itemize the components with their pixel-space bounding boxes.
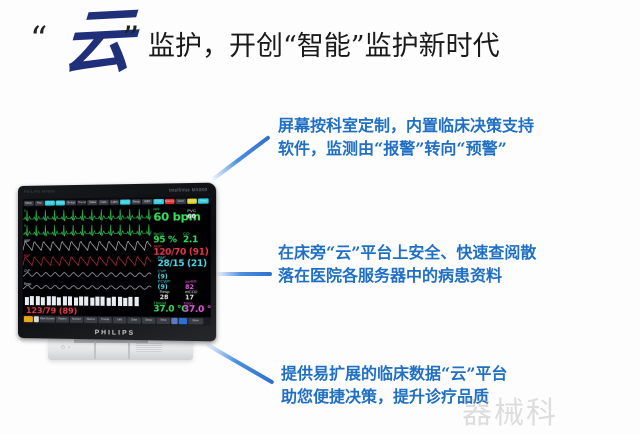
- connector-line-2: [216, 272, 272, 276]
- monitor-tab-12[interactable]: CO2: [153, 198, 163, 203]
- stand-port-grille: [136, 343, 162, 352]
- monitor-tab-0[interactable]: Main: [24, 200, 34, 205]
- toolbar-button-12[interactable]: [179, 318, 188, 324]
- callout-3-line-1: 提供易扩展的临床数据“云”平台: [281, 362, 507, 385]
- waveform-label-3: PAP: [24, 254, 30, 258]
- monitor-tab-9[interactable]: SpO2: [120, 199, 130, 204]
- co2-bar: [134, 297, 138, 306]
- power-button-icon[interactable]: [60, 344, 74, 350]
- co2-bar: [107, 298, 111, 306]
- callout-text-3: 提供易扩展的临床数据“云”平台 助您便捷决策，提升诊疗品质: [281, 362, 507, 408]
- bezel-model-label: IntelliVue MX800: [169, 187, 208, 193]
- connector-line-1: [211, 135, 271, 182]
- co2-bar: [52, 296, 56, 305]
- co2-bar: [74, 297, 78, 305]
- monitor-tab-8[interactable]: Labs: [109, 199, 119, 204]
- monitor-tab-14[interactable]: Vent: [176, 198, 186, 203]
- co2-bar: [90, 298, 94, 306]
- monitor-tab-11[interactable]: NBP: [142, 199, 152, 204]
- co2-bar: [63, 297, 67, 306]
- waveform-label-0: II: [24, 209, 26, 213]
- numeric-pvc[interactable]: PVC60: [187, 208, 196, 221]
- monitor-tab-4[interactable]: Setup: [66, 200, 76, 205]
- co2-bar: [46, 297, 50, 306]
- numeric-parameters-panel: HR60 bpmPVC60SpO295 %CO2.1ABP120/70 (91)…: [151, 206, 210, 319]
- nbp-reading-bottom: 123/79 (89): [26, 305, 77, 316]
- waveform-label-5: Resp: [24, 282, 31, 286]
- waveform-trace-0: [23, 207, 151, 223]
- monitor-tab-3[interactable]: Alarm: [56, 200, 66, 205]
- co2-bar: [95, 297, 99, 306]
- waveform-row-4: CVP: [23, 269, 151, 282]
- waveform-trace-4: [23, 269, 151, 282]
- bezel-left-label: PHILIPS MX800: [24, 189, 55, 194]
- waveform-row-2: ABP: [23, 238, 151, 253]
- stand-slot-right: [128, 339, 130, 359]
- callout-text-2: 在床旁“云”平台上安全、快速查阅散 落在医院各服务器中的病患资料: [278, 241, 536, 287]
- waveform-row-0: II: [23, 207, 151, 223]
- callout-1-line-1: 屏幕按科室定制，内置临床决策支持: [278, 114, 534, 137]
- callout-2-line-1: 在床旁“云”平台上安全、快速查阅散: [278, 241, 536, 264]
- toolbar-button-7[interactable]: Calc: [113, 317, 126, 323]
- toolbar-button-11[interactable]: [171, 318, 177, 324]
- waveform-trace-3: [23, 254, 151, 268]
- co2-bar: [25, 297, 29, 305]
- patient-monitor: PHILIPS MX800 IntelliVue MX800 PHILIPS M…: [18, 186, 226, 366]
- callout-1-line-2: 软件，监测由“报警”转向“预警”: [278, 137, 534, 160]
- co2-bar: [112, 297, 116, 306]
- monitor-bottom-toolbar[interactable]: Main ScreenPatientMonitorAlarmsTrendsCal…: [23, 315, 211, 326]
- waveform-row-5: Resp: [23, 282, 151, 294]
- stand-slot-left: [94, 339, 96, 359]
- co2-bar: [57, 297, 61, 305]
- page-title: “ 云 ” 监护，开创“智能”监护新时代: [0, 0, 640, 88]
- monitor-tab-7[interactable]: Calc: [99, 199, 109, 204]
- numeric-value-12: 37.0 °C: [183, 306, 211, 316]
- toolbar-button-13[interactable]: More: [188, 318, 203, 324]
- toolbar-button-6[interactable]: Trends: [98, 317, 111, 323]
- waveform-area: IIVABPPAPCVPResp123/79 (89): [23, 206, 151, 317]
- title-text: 监护，开创“智能”监护新时代: [148, 24, 500, 63]
- monitor-tab-6[interactable]: Data: [88, 199, 98, 204]
- numeric-pap[interactable]: PAP28/15 (21): [158, 255, 207, 270]
- toolbar-button-3[interactable]: Patient: [56, 316, 69, 322]
- co2-bar: [79, 297, 83, 306]
- waveform-row-1: V: [23, 223, 151, 238]
- co2-bar: [101, 296, 105, 305]
- toolbar-button-10[interactable]: Print: [157, 318, 171, 324]
- monitor-tab-2[interactable]: ECG: [45, 200, 55, 205]
- monitor-tab-10[interactable]: Resp: [131, 199, 141, 204]
- waveform-row-3: PAP: [23, 254, 151, 268]
- waveform-trace-2: [23, 238, 151, 253]
- monitor-screen[interactable]: MainPatECGAlarmSetupTrendDataCalcLabsSpO…: [23, 196, 211, 325]
- waveform-trace-5: [23, 282, 151, 294]
- callout-3-line-2: 助您便捷决策，提升诊疗品质: [281, 385, 507, 408]
- monitor-tab-13[interactable]: Alarms: [164, 198, 174, 203]
- toolbar-button-9[interactable]: Setup: [142, 318, 156, 324]
- toolbar-button-4[interactable]: Monitor: [70, 317, 83, 323]
- monitor-tab-15[interactable]: Temp: [187, 198, 197, 203]
- co2-bar: [123, 298, 127, 306]
- toolbar-button-1[interactable]: [34, 316, 39, 322]
- co2-bar: [68, 296, 72, 305]
- callout-text-1: 屏幕按科室定制，内置临床决策支持 软件，监测由“报警”转向“预警”: [278, 114, 534, 160]
- waveform-trace-1: [23, 223, 151, 238]
- numeric-value-1: 60: [187, 213, 196, 220]
- toolbar-button-2[interactable]: Main Screen: [40, 316, 55, 322]
- callout-2-line-2: 落在医院各服务器中的病患资料: [278, 264, 536, 287]
- co2-bar: [30, 297, 34, 306]
- toolbar-button-5[interactable]: Alarms: [84, 317, 97, 323]
- waveform-label-2: ABP: [24, 239, 30, 243]
- philips-brand-logo: PHILIPS: [18, 328, 216, 338]
- co2-bar: [118, 297, 122, 306]
- slide-canvas: “ 云 ” 监护，开创“智能”监护新时代 PHILIPS MX800 Intel…: [0, 0, 640, 434]
- co2-bar: [36, 296, 40, 305]
- waveform-label-1: V: [24, 224, 26, 228]
- co2-bar: [84, 296, 88, 305]
- waveform-label-4: CVP: [24, 269, 31, 273]
- toolbar-button-0[interactable]: [24, 316, 33, 322]
- co2-bar: [41, 297, 45, 305]
- monitor-tab-16[interactable]: Pres: [198, 198, 208, 203]
- title-quote-close: ”: [122, 22, 139, 56]
- monitor-bezel: PHILIPS MX800 IntelliVue MX800 PHILIPS M…: [18, 183, 216, 342]
- monitor-tab-5[interactable]: Trend: [77, 200, 87, 205]
- co2-bar: [129, 297, 133, 306]
- toolbar-button-8[interactable]: Data: [127, 317, 141, 323]
- numeric-tskin[interactable]: Tskin37.0 °C: [183, 300, 211, 315]
- monitor-tab-1[interactable]: Pat: [34, 200, 44, 205]
